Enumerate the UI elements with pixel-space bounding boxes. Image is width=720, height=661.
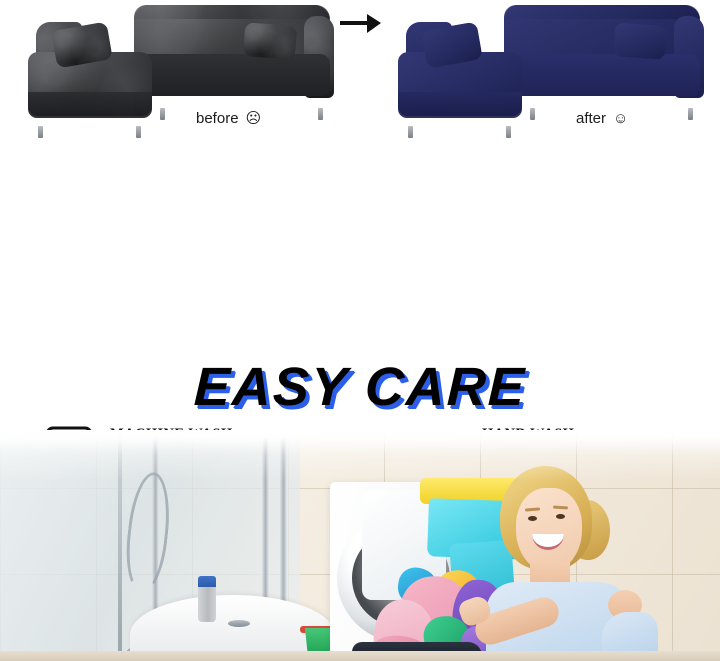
sofa-leg bbox=[136, 126, 141, 138]
sofa-leg bbox=[408, 126, 413, 138]
frowning-face-icon: ☹ bbox=[246, 111, 262, 126]
sofa-seat bbox=[508, 54, 700, 96]
sofa-leg bbox=[160, 108, 165, 120]
shower-glass-seam bbox=[118, 430, 122, 661]
after-label: after ☺ bbox=[576, 110, 628, 127]
easy-care-section: EASY CARE MACHINE WASH Tumb bbox=[0, 160, 720, 435]
sofa-pillow-right bbox=[613, 22, 667, 60]
before-label-text: before bbox=[196, 110, 239, 127]
sofa-pillow-right bbox=[243, 22, 297, 60]
sofa-seat bbox=[138, 54, 330, 96]
arrow-right-icon bbox=[338, 8, 382, 38]
sofa-leg bbox=[318, 108, 323, 120]
sofa-after-image bbox=[378, 0, 708, 140]
page-title-text: EASY CARE bbox=[193, 356, 527, 418]
sofa-leg bbox=[530, 108, 535, 120]
smiling-face-icon: ☺ bbox=[613, 111, 628, 126]
shampoo-bottle-cap bbox=[198, 576, 216, 587]
before-after-section: before ☹ after ☺ bbox=[0, 0, 720, 160]
product-infographic: before ☹ after ☺ EASY CARE bbox=[0, 0, 720, 661]
before-label: before ☹ bbox=[196, 110, 261, 127]
shower-drain bbox=[228, 620, 250, 627]
woman-eye bbox=[528, 516, 537, 521]
sofa-backrest-top bbox=[504, 5, 700, 19]
woman-eye bbox=[556, 514, 565, 519]
sofa-before-graphic bbox=[8, 0, 338, 140]
sofa-chaise-front bbox=[398, 92, 522, 118]
woman-face bbox=[516, 488, 582, 572]
laundry-photo bbox=[0, 430, 720, 661]
sofa-leg bbox=[38, 126, 43, 138]
sofa-after-graphic bbox=[378, 0, 708, 140]
after-label-text: after bbox=[576, 110, 606, 127]
page-title: EASY CARE bbox=[0, 356, 720, 418]
sofa-backrest-top bbox=[134, 5, 330, 19]
sofa-chaise-front bbox=[28, 92, 152, 118]
sofa-leg bbox=[506, 126, 511, 138]
sofa-before-image bbox=[8, 0, 338, 140]
bathroom-floor bbox=[0, 651, 720, 661]
sofa-leg bbox=[688, 108, 693, 120]
